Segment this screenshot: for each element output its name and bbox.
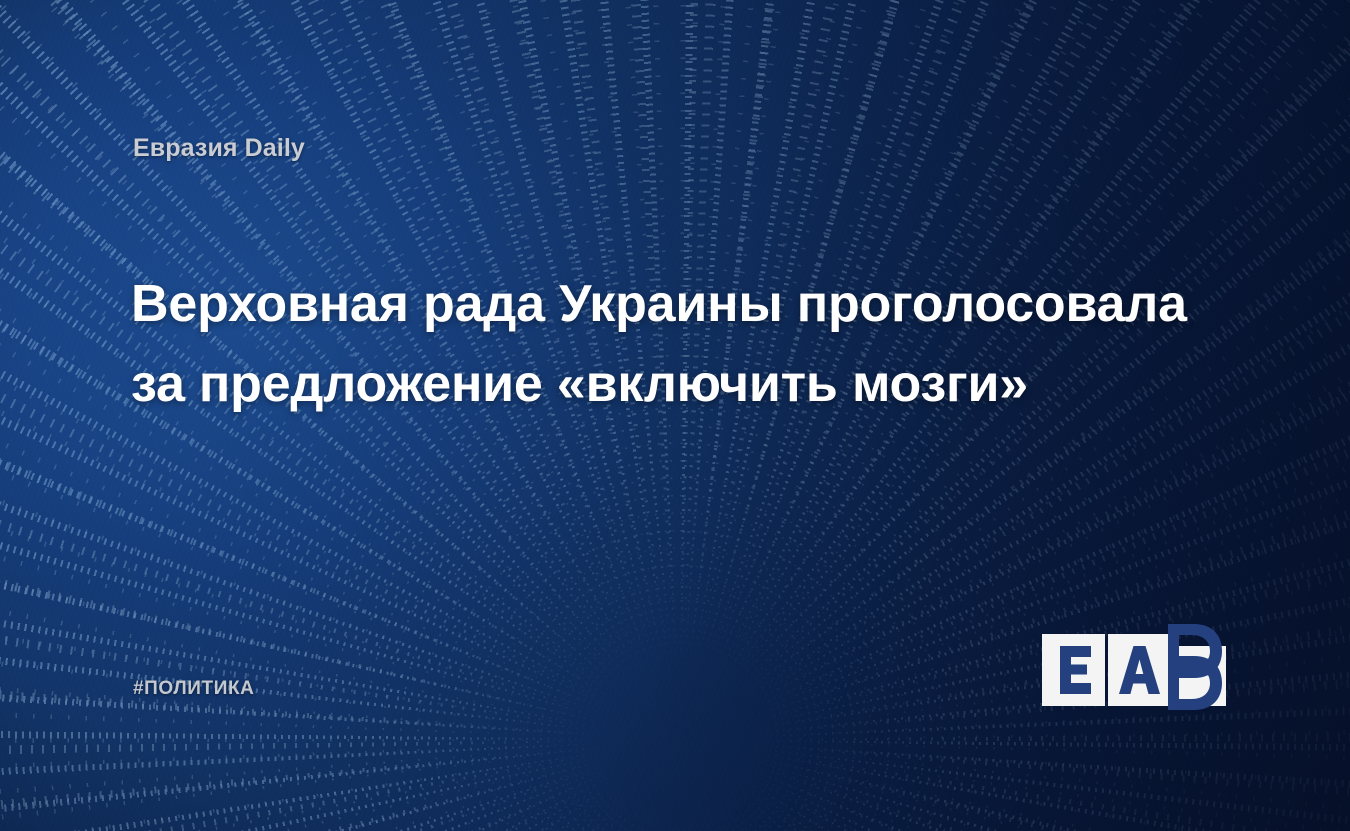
- cover-content: Евразия Daily Верховная рада Украины про…: [0, 0, 1350, 831]
- site-name[interactable]: Евразия Daily: [133, 134, 305, 163]
- eadaily-logo[interactable]: [1042, 624, 1226, 710]
- category-tag[interactable]: #ПОЛИТИКА: [133, 678, 255, 700]
- page-title: Верховная рада Украины проголосовала за …: [131, 264, 1241, 424]
- article-cover-card: Евразия Daily Верховная рада Украины про…: [0, 0, 1350, 831]
